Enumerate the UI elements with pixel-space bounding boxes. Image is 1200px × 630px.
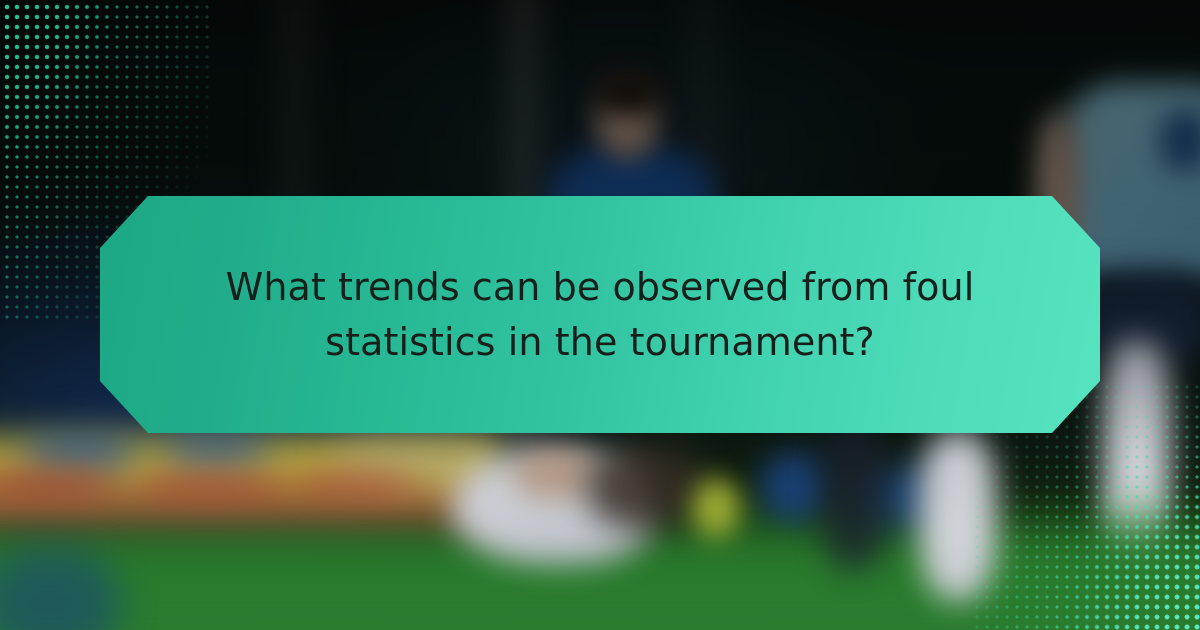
- photo-board-blue-left: [20, 436, 138, 470]
- photo-player-dark-leg: [822, 420, 886, 570]
- photo-board-red-mid: [130, 474, 290, 500]
- question-card: What trends can be observed from foul st…: [100, 196, 1100, 433]
- photo-player-white-shadow: [586, 444, 706, 530]
- photo-player-blue-low: [760, 452, 830, 522]
- photo-player-cyan-number: [1160, 110, 1200, 172]
- photo-soccer-ball: [692, 478, 740, 538]
- photo-board-red-right: [290, 472, 420, 498]
- photo-player-white-leg: [920, 430, 996, 600]
- share-card-canvas: What trends can be observed from foul st…: [0, 0, 1200, 630]
- photo-board-blue-mid: [160, 436, 270, 466]
- question-text: What trends can be observed from foul st…: [220, 260, 980, 370]
- photo-player-blue-hair: [592, 70, 664, 114]
